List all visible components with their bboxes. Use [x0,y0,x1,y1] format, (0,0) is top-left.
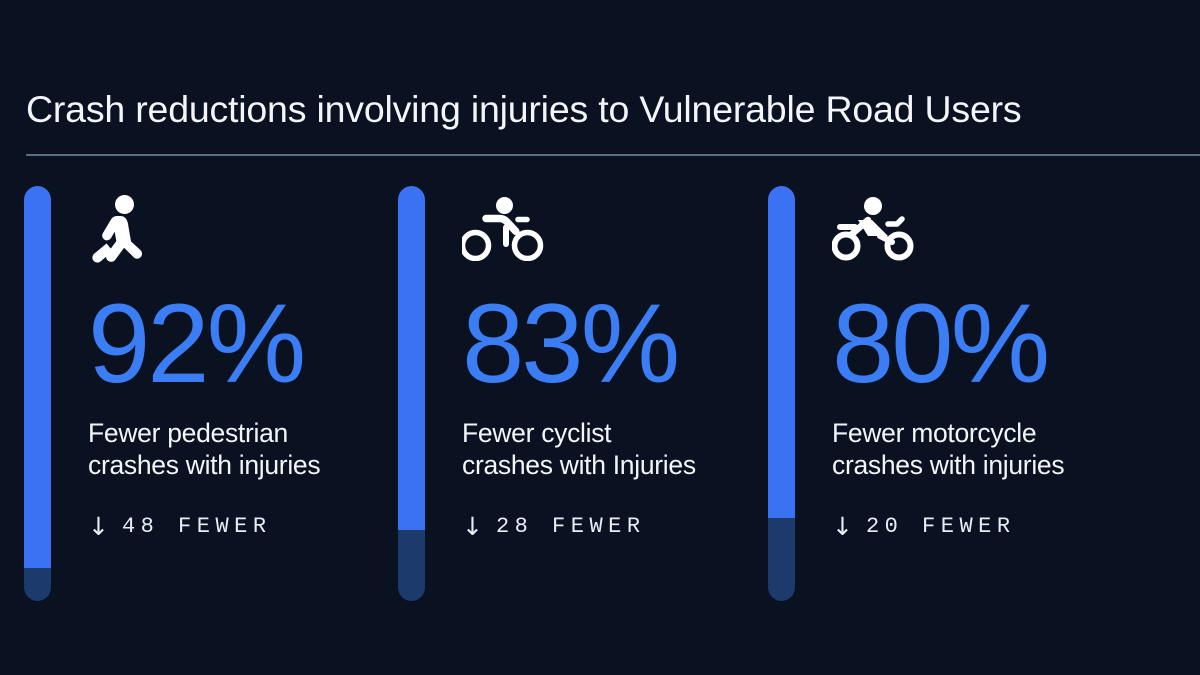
cyclist-icon [462,186,778,272]
progress-bar-fill [768,186,795,518]
description-line-1: Fewer cyclist [462,417,778,449]
arrow-down-icon: ↓ [462,514,483,539]
absolute-reduction-label: 20 FEWER [866,514,1016,539]
stat-column-motorcycle: 80% Fewer motorcycle crashes with injuri… [768,186,1148,606]
description-line-2: crashes with injuries [88,449,404,481]
arrow-down-icon: ↓ [832,514,853,539]
absolute-reduction: ↓ 28 FEWER [462,514,778,539]
stat-description: Fewer motorcycle crashes with injuries [832,417,1148,482]
stat-body: 80% Fewer motorcycle crashes with injuri… [832,186,1148,539]
absolute-reduction: ↓ 48 FEWER [88,514,404,539]
percent-value: 80% [832,292,1148,395]
description-line-2: crashes with Injuries [462,449,778,481]
arrow-down-icon: ↓ [88,514,109,539]
stat-body: 83% Fewer cyclist crashes with Injuries … [462,186,778,539]
infographic-slide: Crash reductions involving injuries to V… [0,0,1200,675]
stat-column-cyclist: 83% Fewer cyclist crashes with Injuries … [398,186,778,606]
stats-container: 92% Fewer pedestrian crashes with injuri… [0,186,1200,606]
progress-bar-fill [398,186,425,530]
absolute-reduction-label: 48 FEWER [122,514,272,539]
description-line-1: Fewer pedestrian [88,417,404,449]
percent-value: 92% [88,292,404,395]
page-title: Crash reductions involving injuries to V… [26,88,1021,131]
absolute-reduction-label: 28 FEWER [496,514,646,539]
description-line-1: Fewer motorcycle [832,417,1148,449]
stat-column-pedestrian: 92% Fewer pedestrian crashes with injuri… [24,186,404,606]
header-divider [26,154,1200,156]
progress-bar-fill [24,186,51,568]
absolute-reduction: ↓ 20 FEWER [832,514,1148,539]
progress-bar-motorcycle [768,186,795,601]
pedestrian-icon [88,186,404,272]
percent-value: 83% [462,292,778,395]
progress-bar-pedestrian [24,186,51,601]
stat-body: 92% Fewer pedestrian crashes with injuri… [88,186,404,539]
progress-bar-cyclist [398,186,425,601]
stat-description: Fewer cyclist crashes with Injuries [462,417,778,482]
stat-description: Fewer pedestrian crashes with injuries [88,417,404,482]
description-line-2: crashes with injuries [832,449,1148,481]
motorcycle-icon [832,186,1148,272]
